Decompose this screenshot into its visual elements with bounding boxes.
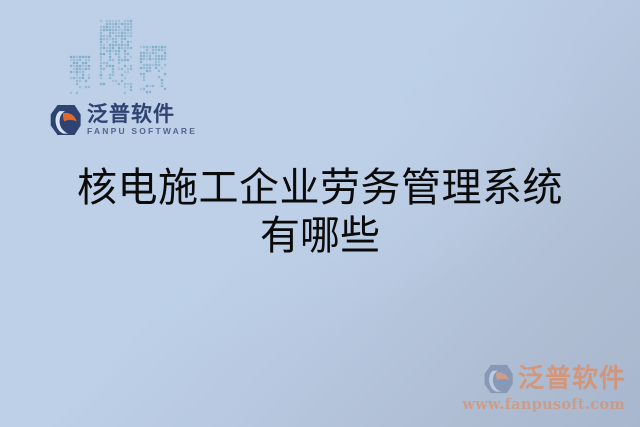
- page-title-line-2: 有哪些: [0, 212, 640, 260]
- brand-wordmark-group: 泛普软件 FANPU SOFTWARE: [87, 103, 197, 136]
- watermark-logo-row: 泛普软件: [482, 363, 626, 395]
- page-title: 核电施工企业劳务管理系统 有哪些: [0, 164, 640, 260]
- fanpu-logo-mark-watermark: [482, 363, 514, 395]
- pixel-skyline-graphic: [62, 16, 170, 98]
- brand-name-cn: 泛普软件: [87, 103, 197, 125]
- watermark-name-cn: 泛普软件: [518, 366, 626, 392]
- banner-canvas: 泛普软件 FANPU SOFTWARE 核电施工企业劳务管理系统 有哪些 泛普软…: [0, 0, 640, 427]
- watermark: 泛普软件 www.fanpusoft.com: [462, 363, 626, 413]
- brand-name-en: FANPU SOFTWARE: [87, 127, 197, 136]
- brand-lockup: 泛普软件 FANPU SOFTWARE: [48, 100, 197, 140]
- watermark-url: www.fanpusoft.com: [462, 396, 625, 413]
- page-title-line-1: 核电施工企业劳务管理系统: [0, 164, 640, 212]
- pixel-skyline-canvas: [62, 16, 170, 98]
- fanpu-logo-mark: [48, 103, 82, 137]
